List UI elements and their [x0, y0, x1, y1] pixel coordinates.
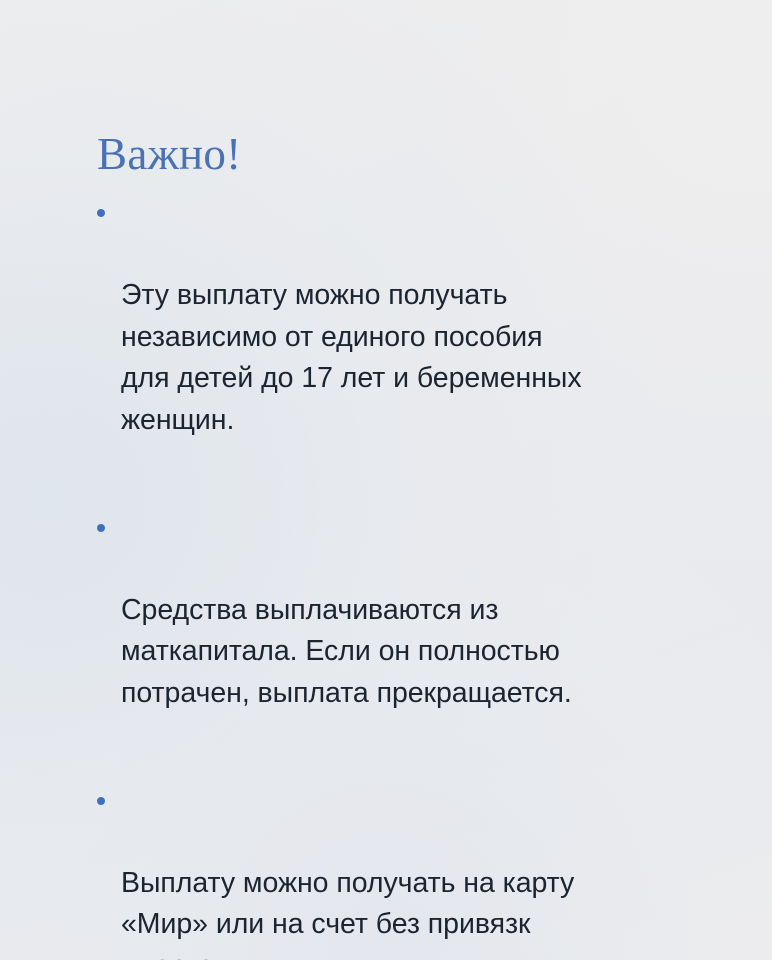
- list-item-text: Средства выплачиваются из маткапитала. Е…: [121, 590, 675, 715]
- list-item-text: Выплату можно получать на карту «Мир» ил…: [121, 863, 675, 960]
- page-title: Важно!: [97, 128, 675, 180]
- slide-canvas: Важно! Эту выплату можно получать незави…: [0, 0, 772, 960]
- bullet-dot-icon: [97, 524, 105, 532]
- list-item: Эту выплату можно получать независимо от…: [95, 192, 675, 483]
- content-column: Важно! Эту выплату можно получать незави…: [95, 128, 675, 960]
- bullet-dot-icon: [97, 797, 105, 805]
- bullet-dot-icon: [97, 209, 105, 217]
- list-item: Выплату можно получать на карту «Мир» ил…: [95, 780, 675, 960]
- important-notes-list: Эту выплату можно получать независимо от…: [95, 192, 675, 960]
- list-item: Средства выплачиваются из маткапитала. Е…: [95, 507, 675, 756]
- list-item-text: Эту выплату можно получать независимо от…: [121, 275, 675, 441]
